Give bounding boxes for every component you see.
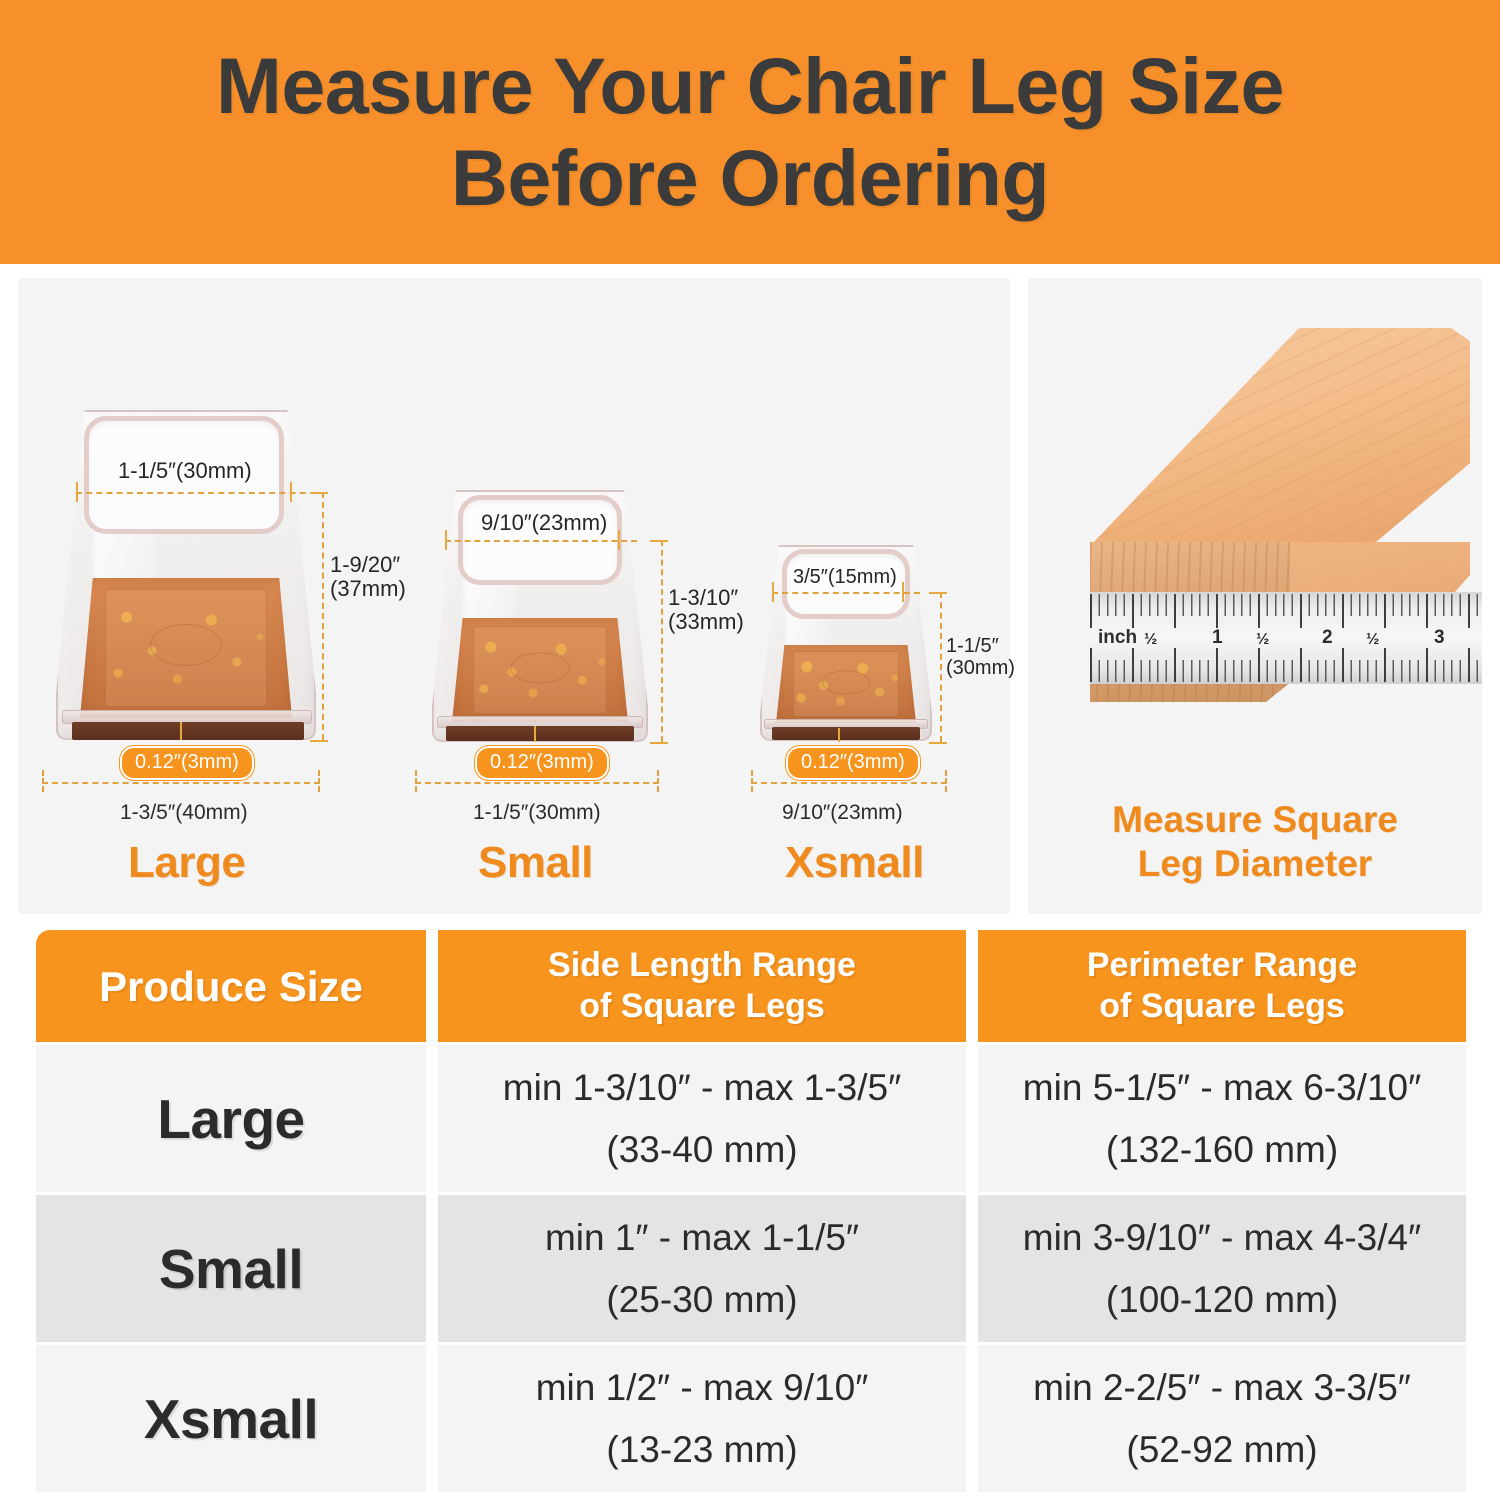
row-perimeter-small: min 3-9/10″ - max 4-3/4″ (100-120 mm): [978, 1195, 1466, 1342]
tick-base-left-large: [42, 770, 44, 792]
dim-top-opening-xsmall: 3/5″(15mm): [793, 565, 897, 589]
table-row: Small min 1″ - max 1-1/5″ (25-30 mm) min…: [36, 1195, 1466, 1342]
wood-top-face: [1090, 328, 1470, 546]
perimeter-mm: (100-120 mm): [1023, 1269, 1421, 1331]
tick-base-right-xsmall: [945, 770, 947, 792]
badge-pad-thickness-xsmall: 0.12″(3mm): [786, 746, 920, 780]
tick-left-xsmall: [772, 582, 774, 602]
size-label-small: Small: [478, 838, 593, 888]
infographic-page: Measure Your Chair Leg Size Before Order…: [0, 0, 1500, 1500]
dim-line-top-large: [76, 492, 326, 494]
badge-pad-thickness-small: 0.12″(3mm): [475, 746, 609, 780]
wood-grain: [1090, 328, 1470, 546]
felt-base-xsmall: [772, 727, 920, 740]
dim-line-height-small: [661, 540, 663, 742]
dim-line-height-xsmall: [940, 592, 942, 742]
dim-top-opening-small: 9/10″(23mm): [481, 510, 607, 536]
pad-circle: [150, 624, 222, 666]
dim-base-xsmall: 9/10″(23mm): [782, 800, 903, 826]
ruler-mark-3: 2: [1322, 626, 1333, 650]
column-gap: [426, 1045, 438, 1192]
row-side-length-xsmall: min 1/2″ - max 9/10″ (13-23 mm): [438, 1345, 966, 1492]
side-length-inches: min 1-3/10″ - max 1-3/5″: [503, 1067, 901, 1108]
side-length-mm: (33-40 mm): [503, 1119, 901, 1181]
felt-base-large: [72, 722, 304, 740]
ruler-mark-5: 3: [1434, 626, 1445, 650]
dim-line-base-large: [42, 782, 320, 784]
dim-line-top-small: [445, 540, 637, 542]
header-banner: Measure Your Chair Leg Size Before Order…: [0, 0, 1500, 264]
ruler-mark-2: ½: [1256, 628, 1269, 652]
perimeter-mm: (52-92 mm): [1033, 1419, 1411, 1481]
caption-line2: Leg Diameter: [1028, 842, 1482, 886]
dim-height-mm-large: (37mm): [330, 576, 406, 602]
row-size-small: Small: [36, 1195, 426, 1342]
column-gap: [426, 930, 438, 1042]
tick-bot-h-large: [310, 740, 328, 742]
column-gap: [966, 1045, 978, 1192]
tick-base-right-small: [657, 770, 659, 792]
tick-right-large: [290, 482, 292, 502]
tick-bot-h-xsmall: [929, 742, 947, 744]
caption-line1: Measure Square: [1028, 798, 1482, 842]
tick-top-h-xsmall: [929, 592, 947, 594]
dim-line-base-small: [415, 782, 659, 784]
dim-height-large: 1-9/20″: [330, 552, 400, 578]
dim-top-opening-large: 1-1/5″(30mm): [118, 458, 252, 484]
tick-base-left-xsmall: [751, 770, 753, 792]
row-size-large: Large: [36, 1045, 426, 1192]
perimeter-inches: min 2-2/5″ - max 3-3/5″: [1033, 1367, 1411, 1408]
dim-line-height-large: [322, 492, 324, 740]
header-title-line1: Measure Your Chair Leg Size: [216, 40, 1284, 132]
ruler-major-ticks-top: [1090, 594, 1482, 628]
side-length-mm: (25-30 mm): [545, 1269, 859, 1331]
grip-pad-large: [80, 578, 292, 718]
dim-height-xsmall: 1-1/5″: [946, 634, 999, 658]
ruler-mark-0: ½: [1144, 628, 1157, 652]
perimeter-inches: min 3-9/10″ - max 4-3/4″: [1023, 1217, 1421, 1258]
table-row: Large min 1-3/10″ - max 1-3/5″ (33-40 mm…: [36, 1045, 1466, 1192]
header-side-length-line2: of Square Legs: [548, 986, 856, 1027]
tick-right-small: [618, 530, 620, 550]
row-perimeter-xsmall: min 2-2/5″ - max 3-3/5″ (52-92 mm): [978, 1345, 1466, 1492]
tick-left-small: [445, 530, 447, 550]
dim-base-small: 1-1/5″(30mm): [473, 800, 601, 826]
perimeter-mm: (132-160 mm): [1023, 1119, 1421, 1181]
row-perimeter-large: min 5-1/5″ - max 6-3/10″ (132-160 mm): [978, 1045, 1466, 1192]
ruler: inch ½ 1 ½ 2 ½ 3: [1090, 592, 1482, 684]
header-perimeter-range: Perimeter Range of Square Legs: [978, 930, 1466, 1042]
ruler-mark-4: ½: [1366, 628, 1379, 652]
size-label-large: Large: [128, 838, 245, 888]
tick-bot-h-small: [650, 742, 668, 744]
header-title-line2: Before Ordering: [451, 132, 1049, 224]
row-side-length-large: min 1-3/10″ - max 1-3/5″ (33-40 mm): [438, 1045, 966, 1192]
column-gap: [966, 1345, 978, 1492]
measure-leg-caption: Measure Square Leg Diameter: [1028, 798, 1482, 886]
dim-line-base-xsmall: [751, 782, 947, 784]
size-label-xsmall: Xsmall: [785, 838, 924, 888]
tick-base-left-small: [415, 770, 417, 792]
header-side-length-line1: Side Length Range: [548, 945, 856, 986]
grip-pad-small: [452, 618, 628, 722]
wooden-leg-illustration: inch ½ 1 ½ 2 ½ 3: [1028, 300, 1482, 730]
pad-circle: [822, 671, 870, 694]
dim-height-mm-small: (33mm): [668, 609, 744, 635]
table-header-row: Produce Size Side Length Range of Square…: [36, 930, 1466, 1042]
ruler-major-ticks-bottom: [1090, 648, 1482, 682]
tick-top-h-large: [310, 492, 328, 494]
column-gap: [966, 1195, 978, 1342]
tick-pad-large: [180, 722, 182, 740]
header-perimeter-line1: Perimeter Range: [1087, 945, 1357, 986]
tick-pad-xsmall: [838, 728, 840, 742]
pad-circle: [510, 652, 570, 683]
badge-pad-thickness-large: 0.12″(3mm): [120, 746, 254, 780]
column-gap: [426, 1345, 438, 1492]
dim-line-top-xsmall: [772, 592, 920, 594]
header-produce-size: Produce Size: [36, 930, 426, 1042]
size-chart-table: Produce Size Side Length Range of Square…: [36, 930, 1466, 1482]
grip-pad-xsmall: [776, 645, 916, 723]
ruler-unit-label: inch: [1098, 626, 1137, 650]
tick-right-xsmall: [902, 582, 904, 602]
dim-height-mm-xsmall: (30mm): [946, 656, 1015, 680]
header-side-length-range: Side Length Range of Square Legs: [438, 930, 966, 1042]
side-length-inches: min 1/2″ - max 9/10″: [536, 1367, 869, 1408]
side-length-mm: (13-23 mm): [536, 1419, 869, 1481]
tick-pad-small: [534, 726, 536, 742]
side-length-inches: min 1″ - max 1-1/5″: [545, 1217, 859, 1258]
row-side-length-small: min 1″ - max 1-1/5″ (25-30 mm): [438, 1195, 966, 1342]
ruler-mark-1: 1: [1212, 626, 1223, 650]
perimeter-inches: min 5-1/5″ - max 6-3/10″: [1023, 1067, 1421, 1108]
felt-base-small: [446, 726, 634, 741]
column-gap: [426, 1195, 438, 1342]
dim-base-large: 1-3/5″(40mm): [120, 800, 248, 826]
table-row: Xsmall min 1/2″ - max 9/10″ (13-23 mm) m…: [36, 1345, 1466, 1492]
tick-top-h-small: [650, 540, 668, 542]
row-size-xsmall: Xsmall: [36, 1345, 426, 1492]
header-perimeter-line2: of Square Legs: [1087, 986, 1357, 1027]
dim-height-small: 1-3/10″: [668, 585, 738, 611]
tick-left-large: [76, 482, 78, 502]
tick-base-right-large: [318, 770, 320, 792]
column-gap: [966, 930, 978, 1042]
